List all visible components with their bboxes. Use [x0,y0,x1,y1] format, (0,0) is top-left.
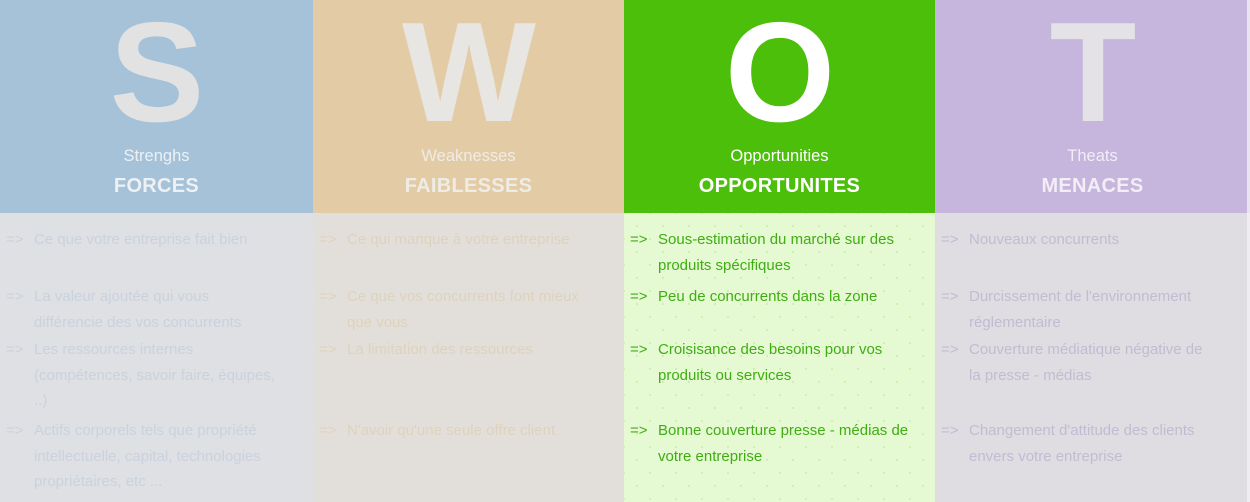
list-item-text: Ce que votre entreprise fait bien [34,227,309,253]
list-item-text: Les ressources internes (compétences, sa… [34,337,309,414]
list-item: => Durcissement de l'environnement régle… [941,284,1246,335]
list-item: => Ce qui manque à votre entreprise [319,227,620,253]
column-body-threats: => Nouveaux concurrents => Durcissement … [935,213,1250,502]
list-item: => Nouveaux concurrents [941,227,1246,253]
arrow-marker-icon: => [319,418,347,444]
arrow-marker-icon: => [630,227,658,253]
letter-t: T [1050,4,1136,142]
list-item-text: Couverture médiatique négative de la pre… [969,337,1246,388]
swot-board: S Strenghs FORCES => Ce que votre entrep… [0,0,1250,502]
list-item: => La limitation des ressources [319,337,620,363]
list-item-text: Bonne couverture presse - médias de votr… [658,418,931,469]
arrow-marker-icon: => [941,418,969,444]
label-fr-faiblesses: FAIBLESSES [405,173,532,199]
label-en-opportunities: Opportunities [730,146,828,166]
list-item: => Changement d'attitude des clients env… [941,418,1246,469]
list-item: => Bonne couverture presse - médias de v… [630,418,931,469]
list-item: => Croisisance des besoins pour vos prod… [630,337,931,388]
list-item-text: Ce que vos concurrents font mieux que vo… [347,284,620,335]
letter-o: O [725,4,834,142]
list-item: => Ce que vos concurrents font mieux que… [319,284,620,335]
list-item-text: La limitation des ressources [347,337,620,363]
label-fr-menaces: MENACES [1041,173,1143,199]
swot-column-opportunities: O Opportunities OPPORTUNITES => Sous-est… [624,0,935,502]
column-header-strengths: S Strenghs FORCES [0,0,313,213]
arrow-marker-icon: => [630,337,658,363]
arrow-marker-icon: => [6,418,34,444]
label-fr-opportunites: OPPORTUNITES [699,173,860,199]
arrow-marker-icon: => [319,227,347,253]
list-item: => La valeur ajoutée qui vous différenci… [6,284,309,335]
arrow-marker-icon: => [630,418,658,444]
arrow-marker-icon: => [319,284,347,310]
list-item-text: N'avoir qu'une seule offre client [347,418,620,444]
list-item-text: Nouveaux concurrents [969,227,1246,253]
list-item-text: Sous-estimation du marché sur des produi… [658,227,931,278]
label-en-weaknesses: Weaknesses [421,146,515,166]
list-item-text: Ce qui manque à votre entreprise [347,227,620,253]
column-header-weaknesses: W Weaknesses FAIBLESSES [313,0,624,213]
arrow-marker-icon: => [941,227,969,253]
list-item: => Actifs corporels tels que propriété i… [6,418,309,495]
list-item: => Ce que votre entreprise fait bien [6,227,309,253]
label-fr-forces: FORCES [114,173,199,199]
arrow-marker-icon: => [6,227,34,253]
column-body-opportunities: => Sous-estimation du marché sur des pro… [624,213,935,502]
list-item-text: La valeur ajoutée qui vous différencie d… [34,284,309,335]
arrow-marker-icon: => [941,337,969,363]
list-item: => Sous-estimation du marché sur des pro… [630,227,931,278]
list-item: => N'avoir qu'une seule offre client [319,418,620,444]
arrow-marker-icon: => [319,337,347,363]
label-en-strengths: Strenghs [123,146,189,166]
list-item-text: Actifs corporels tels que propriété inte… [34,418,309,495]
column-body-weaknesses: => Ce qui manque à votre entreprise => C… [313,213,624,502]
column-header-opportunities: O Opportunities OPPORTUNITES [624,0,935,213]
swot-column-weaknesses: W Weaknesses FAIBLESSES => Ce qui manque… [313,0,624,502]
letter-w: W [402,4,535,142]
list-item: => Couverture médiatique négative de la … [941,337,1246,388]
column-header-threats: T Theats MENACES [935,0,1250,213]
list-item-text: Peu de concurrents dans la zone [658,284,931,310]
list-item-text: Durcissement de l'environnement réglemen… [969,284,1246,335]
list-item: => Peu de concurrents dans la zone [630,284,931,310]
list-item-text: Croisisance des besoins pour vos produit… [658,337,931,388]
column-body-strengths: => Ce que votre entreprise fait bien => … [0,213,313,502]
arrow-marker-icon: => [6,337,34,363]
swot-column-threats: T Theats MENACES => Nouveaux concurrents… [935,0,1250,502]
arrow-marker-icon: => [630,284,658,310]
list-item-text: Changement d'attitude des clients envers… [969,418,1246,469]
label-en-threats: Theats [1067,146,1117,166]
swot-column-strengths: S Strenghs FORCES => Ce que votre entrep… [0,0,313,502]
list-item: => Les ressources internes (compétences,… [6,337,309,414]
arrow-marker-icon: => [6,284,34,310]
letter-s: S [110,4,204,142]
arrow-marker-icon: => [941,284,969,310]
